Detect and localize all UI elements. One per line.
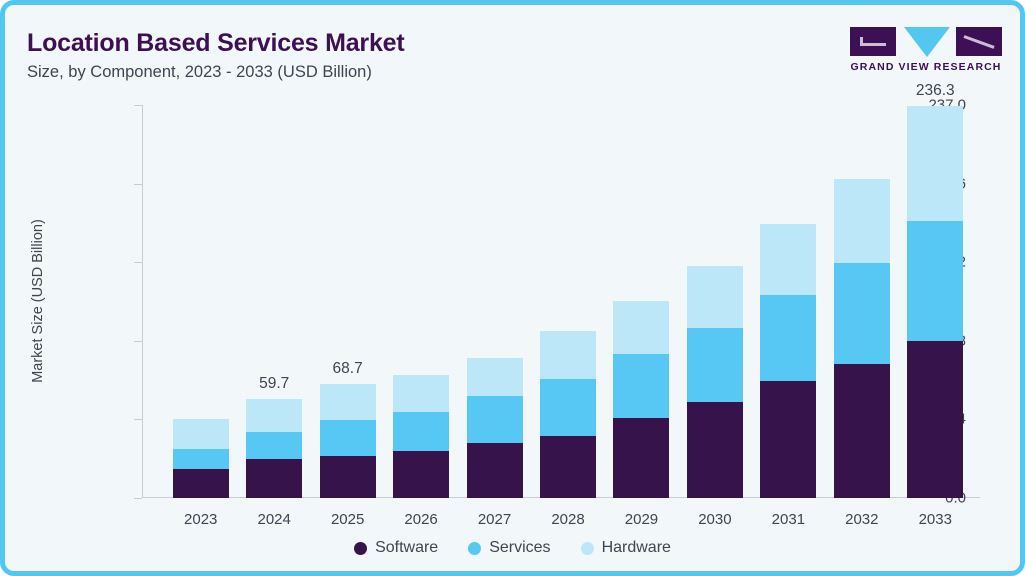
bar-segment-hardware[interactable] bbox=[907, 106, 963, 221]
y-axis-tick bbox=[134, 105, 142, 106]
x-axis-tick-label: 2023 bbox=[184, 511, 217, 528]
bar-segment-hardware[interactable] bbox=[393, 375, 449, 412]
legend-swatch-icon bbox=[354, 542, 367, 555]
y-axis-tick bbox=[134, 184, 142, 185]
bar-segment-hardware[interactable] bbox=[173, 419, 229, 449]
bar-segment-software[interactable] bbox=[907, 341, 963, 498]
bar-segment-hardware[interactable] bbox=[613, 301, 669, 355]
bar-group-2028[interactable]: 2028 bbox=[540, 331, 596, 498]
chart-card: Location Based Services Market Size, by … bbox=[0, 0, 1025, 576]
y-axis-title: Market Size (USD Billion) bbox=[30, 219, 46, 383]
bar-segment-services[interactable] bbox=[834, 263, 890, 364]
bar-segment-software[interactable] bbox=[834, 364, 890, 498]
bar-segment-services[interactable] bbox=[393, 412, 449, 450]
chart-legend: SoftwareServicesHardware bbox=[5, 539, 1020, 557]
bar-segment-software[interactable] bbox=[687, 402, 743, 498]
y-axis-tick bbox=[134, 341, 142, 342]
logo-g-icon bbox=[850, 27, 896, 56]
page-title: Location Based Services Market bbox=[27, 29, 405, 58]
bar-group-2033[interactable]: 236.32033 bbox=[907, 106, 963, 498]
bar-group-2026[interactable]: 2026 bbox=[393, 375, 449, 498]
logo-g-slot bbox=[860, 43, 886, 46]
bar-group-2023[interactable]: 2023 bbox=[173, 419, 229, 498]
y-axis-tick bbox=[134, 498, 142, 499]
chart-plot-area: Market Size (USD Billion) 0.047.494.8142… bbox=[142, 105, 980, 498]
bar-segment-services[interactable] bbox=[173, 449, 229, 469]
bar-group-2025[interactable]: 68.72025 bbox=[320, 384, 376, 498]
bar-segment-hardware[interactable] bbox=[320, 384, 376, 420]
bar-segment-software[interactable] bbox=[173, 469, 229, 498]
bar-segment-hardware[interactable] bbox=[834, 179, 890, 263]
bar-segment-hardware[interactable] bbox=[687, 266, 743, 328]
x-axis-tick-label: 2027 bbox=[478, 511, 511, 528]
legend-swatch-icon bbox=[581, 542, 594, 555]
bar-segment-services[interactable] bbox=[760, 295, 816, 381]
bar-group-2030[interactable]: 2030 bbox=[687, 266, 743, 498]
bar-segment-hardware[interactable] bbox=[246, 399, 302, 432]
bar-segment-services[interactable] bbox=[907, 221, 963, 341]
bar-segment-services[interactable] bbox=[246, 432, 302, 459]
bar-segment-software[interactable] bbox=[540, 436, 596, 498]
legend-label: Hardware bbox=[602, 539, 671, 557]
bar-group-2027[interactable]: 2027 bbox=[467, 358, 523, 498]
bar-group-2032[interactable]: 2032 bbox=[834, 179, 890, 498]
bar-segment-hardware[interactable] bbox=[540, 331, 596, 379]
bar-group-2029[interactable]: 2029 bbox=[613, 301, 669, 498]
legend-label: Services bbox=[489, 539, 550, 557]
chart-header: Location Based Services Market Size, by … bbox=[5, 5, 1020, 97]
bar-segment-hardware[interactable] bbox=[760, 224, 816, 294]
grand-view-research-logo: GRAND VIEW RESEARCH bbox=[850, 27, 1002, 79]
logo-text: GRAND VIEW RESEARCH bbox=[850, 61, 1002, 73]
bar-value-label: 236.3 bbox=[916, 82, 955, 100]
bar-segment-software[interactable] bbox=[467, 443, 523, 498]
bar-segment-services[interactable] bbox=[613, 354, 669, 417]
bar-value-label: 59.7 bbox=[259, 375, 289, 393]
x-axis-tick-label: 2028 bbox=[551, 511, 584, 528]
bar-segment-services[interactable] bbox=[687, 328, 743, 402]
logo-triangle-icon bbox=[904, 27, 950, 57]
x-axis-tick-label: 2025 bbox=[331, 511, 364, 528]
bar-segment-services[interactable] bbox=[320, 420, 376, 455]
logo-r-icon bbox=[956, 27, 1002, 56]
x-axis-tick-label: 2030 bbox=[698, 511, 731, 528]
x-axis-tick-label: 2026 bbox=[404, 511, 437, 528]
x-axis-tick-label: 2032 bbox=[845, 511, 878, 528]
logo-r-slash bbox=[963, 35, 994, 49]
y-axis-tick bbox=[134, 262, 142, 263]
y-axis-tick bbox=[134, 419, 142, 420]
legend-swatch-icon bbox=[468, 542, 481, 555]
bar-segment-services[interactable] bbox=[540, 379, 596, 436]
bar-value-label: 68.7 bbox=[333, 360, 363, 378]
bar-group-2024[interactable]: 59.72024 bbox=[246, 399, 302, 498]
legend-label: Software bbox=[375, 539, 438, 557]
x-axis-tick-label: 2033 bbox=[919, 511, 952, 528]
bar-segment-software[interactable] bbox=[246, 459, 302, 498]
chart-subtitle: Size, by Component, 2023 - 2033 (USD Bil… bbox=[27, 63, 372, 82]
logo-marks bbox=[850, 27, 1002, 59]
x-axis-tick-label: 2031 bbox=[772, 511, 805, 528]
legend-item-hardware[interactable]: Hardware bbox=[581, 539, 671, 557]
legend-item-services[interactable]: Services bbox=[468, 539, 550, 557]
x-axis-tick-label: 2024 bbox=[257, 511, 290, 528]
bar-segment-software[interactable] bbox=[393, 451, 449, 498]
bar-segment-software[interactable] bbox=[760, 381, 816, 498]
legend-item-software[interactable]: Software bbox=[354, 539, 438, 557]
x-axis-tick-label: 2029 bbox=[625, 511, 658, 528]
bar-group-2031[interactable]: 2031 bbox=[760, 224, 816, 498]
bar-segment-hardware[interactable] bbox=[467, 358, 523, 396]
bar-segment-software[interactable] bbox=[613, 418, 669, 498]
y-axis-line bbox=[142, 105, 143, 498]
bar-segment-software[interactable] bbox=[320, 456, 376, 498]
bar-segment-services[interactable] bbox=[467, 396, 523, 443]
